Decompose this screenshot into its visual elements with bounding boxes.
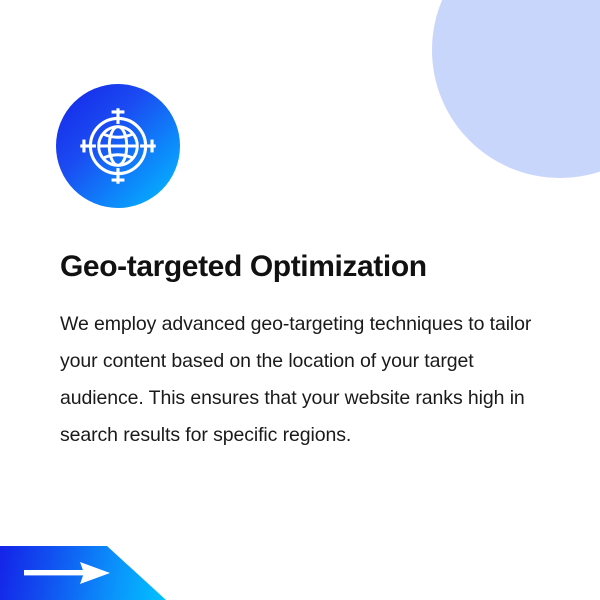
decorative-circle [432,0,600,178]
body-copy: We employ advanced geo-targeting techniq… [60,306,546,454]
feature-card: Geo-targeted Optimization We employ adva… [0,0,600,600]
arrow-right-icon [24,560,112,586]
geo-target-globe-icon [56,84,180,208]
geo-target-globe-glyph [72,100,164,192]
arrow-banner-cta[interactable] [0,546,166,600]
page-title: Geo-targeted Optimization [60,248,550,286]
text-block: Geo-targeted Optimization We employ adva… [60,248,550,454]
